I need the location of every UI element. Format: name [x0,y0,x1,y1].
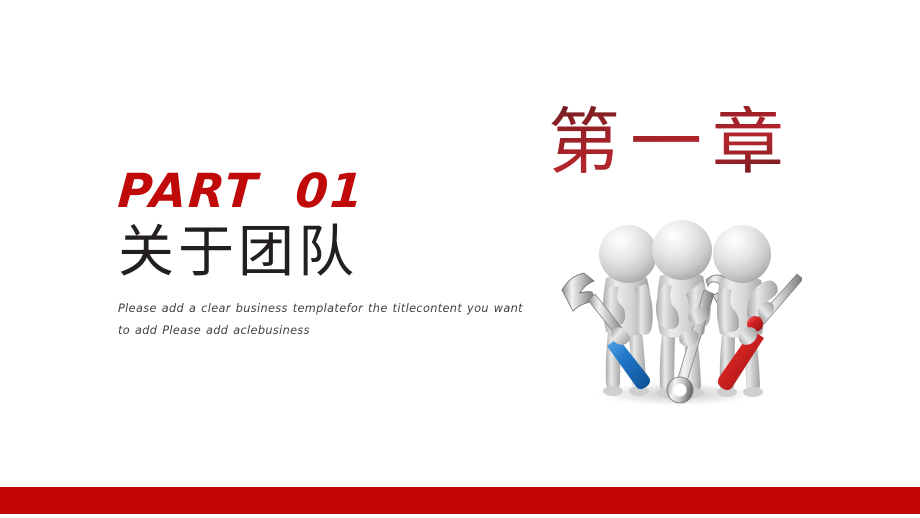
team-illustration [552,212,802,418]
head-center [652,220,712,280]
figure-left [562,225,657,396]
head-right [713,225,771,283]
left-text-block: PART 01 关于团队 Please add a clear business… [118,168,538,342]
body-paragraph: Please add a clear business templatefor … [118,298,530,342]
figure-right [713,225,802,397]
part-label: PART 01 [116,168,539,216]
chapter-title-cn: 第一章 [548,106,794,178]
head-left [599,225,657,283]
bottom-accent-bar [0,487,920,514]
section-subtitle-cn: 关于团队 [118,220,538,286]
slide-canvas: PART 01 关于团队 Please add a clear business… [0,0,920,518]
